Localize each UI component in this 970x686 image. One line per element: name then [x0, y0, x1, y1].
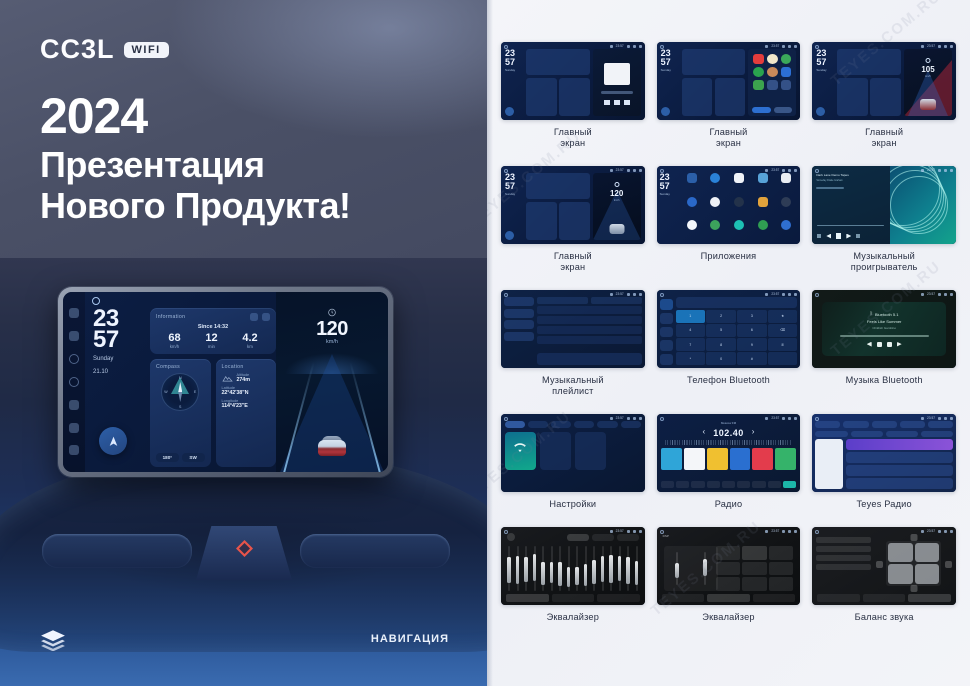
eq-band-slider[interactable]: [559, 546, 561, 591]
eq-preset-icon[interactable]: [507, 533, 515, 541]
eq-band-slider[interactable]: [542, 546, 544, 591]
caption-line-2: экран: [716, 138, 741, 148]
volume-icon: [627, 530, 630, 533]
rail-mute-icon[interactable]: [69, 331, 79, 341]
eq-band-slider[interactable]: [576, 546, 578, 591]
eq-band-slider[interactable]: [610, 546, 612, 591]
thumb-compass-card: [837, 78, 868, 117]
layers-icon: [40, 629, 66, 651]
seat-front-right[interactable]: [915, 543, 940, 563]
eq-band-slider[interactable]: [508, 546, 510, 591]
thumb-clock-day: Sunday: [660, 192, 678, 196]
compass-w: W: [164, 390, 167, 394]
thumbnail-home-drive[interactable]: 23 57 Sunday 105: [812, 42, 956, 120]
widget-column: Information Since 14:32 68: [150, 308, 276, 467]
balance-preset-rear[interactable]: [816, 555, 870, 561]
list-item[interactable]: [537, 326, 642, 334]
app-calculator-icon[interactable]: [758, 173, 768, 183]
balance-bottom-tabs[interactable]: [817, 594, 951, 602]
rail-power-icon[interactable]: [69, 354, 79, 364]
caption-line-2: экран: [560, 138, 585, 148]
dsp-mode-button[interactable]: [769, 577, 794, 591]
navigation-label: НАВИГАЦИЯ: [371, 633, 449, 645]
dock-item[interactable]: [707, 481, 720, 488]
rail-volume-down-icon[interactable]: [69, 423, 79, 433]
key-2[interactable]: 2: [706, 310, 735, 323]
preset-2[interactable]: [684, 448, 705, 470]
equalizer-sliders[interactable]: [508, 546, 638, 591]
gallery-caption: Главный экран: [865, 127, 903, 149]
thumb-status-time: 23:57: [927, 292, 935, 296]
balance-down-button[interactable]: [910, 585, 917, 592]
gallery-item[interactable]: 23:57 Музыкальный плейлист: [501, 290, 645, 397]
gallery-caption: Музыкальный плейлист: [542, 375, 604, 397]
preset-1[interactable]: [661, 448, 682, 470]
teyes-station-artwork: [815, 439, 843, 489]
play-pause-icon[interactable]: [877, 342, 882, 347]
thumbnail-sound-balance[interactable]: 23:57: [812, 527, 956, 605]
thumb-status-bar: 23:57: [765, 44, 797, 48]
eq-band-slider[interactable]: [534, 546, 536, 591]
thumb-status-bar: 23:57: [921, 416, 953, 420]
tab-eq[interactable]: [817, 594, 860, 602]
app-gallery-icon[interactable]: [781, 197, 791, 207]
home-circle-icon: [504, 417, 508, 421]
balance-pad-area[interactable]: [876, 534, 952, 601]
head-unit-bezel: 23:57 15 23: [58, 287, 393, 477]
app-bluetooth-music-icon[interactable]: [734, 173, 744, 183]
radio-next-icon[interactable]: ›: [752, 427, 755, 436]
playlist-tab-artists[interactable]: [504, 320, 534, 329]
thumb-speed-value: 120: [593, 189, 641, 198]
dsp-mode-button[interactable]: [742, 577, 767, 591]
caption-line-1: Эквалайзер: [547, 612, 599, 622]
expand-icon[interactable]: [262, 313, 270, 321]
home-circle-icon: [504, 45, 508, 49]
hero-headline: 2024 Презентация Нового Продукта!: [40, 88, 351, 226]
settings-tabs[interactable]: [505, 421, 641, 428]
balance-preset-all[interactable]: [816, 564, 870, 570]
gallery-caption: Главный экран: [554, 127, 592, 149]
thumbnail-home-speed[interactable]: 23 57 Sunday 120 km/h: [501, 166, 645, 244]
thumbnail-bluetooth-music[interactable]: ᛒ Bluetooth 5.1 Feels Like Summer Childi…: [812, 290, 956, 368]
thumb-status-bar: 23:57: [610, 44, 642, 48]
thumbnail-equalizer[interactable]: 23:57: [501, 527, 645, 605]
playlist-sidebar[interactable]: [504, 297, 534, 365]
app-radio-icon[interactable]: [781, 220, 791, 230]
rail-back-icon[interactable]: [69, 400, 79, 410]
next-icon[interactable]: [897, 342, 902, 347]
list-item[interactable]: [846, 439, 953, 450]
air-vent-left: [42, 534, 192, 568]
gallery-item[interactable]: 23:57 Баланс звука: [812, 527, 956, 623]
list-item[interactable]: [537, 316, 642, 324]
balance-up-button[interactable]: [910, 534, 917, 541]
eq-band-slider[interactable]: [627, 546, 629, 591]
dsp-slider-left[interactable]: [676, 552, 678, 584]
thumbnail-teyes-radio[interactable]: 23:57: [812, 414, 956, 492]
gallery-caption: Главный экран: [709, 127, 747, 149]
tab-sound[interactable]: [528, 421, 548, 428]
thumb-info-card: [837, 49, 901, 75]
dock-item[interactable]: [661, 481, 674, 488]
list-item[interactable]: [537, 336, 642, 344]
gallery-item[interactable]: 23:57 Настройки: [501, 414, 645, 510]
music-progress-bar[interactable]: [817, 225, 884, 226]
list-item[interactable]: [537, 306, 642, 314]
thumb-drive-pane: 105 km/h: [904, 49, 952, 116]
gear-icon: [788, 530, 791, 533]
driving-view-pane[interactable]: 120 km/h: [276, 292, 388, 472]
gear-icon: [633, 530, 636, 533]
dock-item[interactable]: [691, 481, 704, 488]
phone-number-field[interactable]: [676, 297, 798, 308]
dsp-mode-button[interactable]: [769, 562, 794, 576]
radio-bottom-dock[interactable]: [661, 481, 797, 488]
key-4[interactable]: 4: [676, 324, 705, 337]
thumbnail-radio[interactable]: Moscow FM ‹ 102.40 ›: [657, 414, 801, 492]
gear-icon: [944, 45, 947, 48]
eq-band-slider[interactable]: [619, 546, 621, 591]
compass-card[interactable]: Compass N E S W: [150, 359, 211, 467]
home-circle-icon: [815, 45, 819, 49]
list-item[interactable]: [846, 478, 953, 489]
gallery-item[interactable]: 23 57 Sunday 120 km/h: [501, 166, 645, 273]
rail-volume-up-icon[interactable]: [69, 445, 79, 455]
thumb-status-time: 23:57: [616, 168, 624, 172]
settings-card-carplay[interactable]: [540, 432, 571, 470]
app-google-icon[interactable]: [687, 220, 697, 230]
dsp-mode-button[interactable]: [769, 546, 794, 560]
settings-card-wifi[interactable]: [505, 432, 536, 470]
volume-icon: [782, 293, 785, 296]
favorites-icon[interactable]: ★: [768, 310, 797, 323]
thumb-status-bar: 23:57: [610, 416, 642, 420]
dock-search-icon[interactable]: [676, 481, 689, 488]
key-1[interactable]: 1: [676, 310, 705, 323]
clock-minutes: 57: [93, 329, 145, 350]
gear-icon: [633, 169, 636, 172]
tab-eq[interactable]: [662, 594, 705, 602]
playlist-header: [537, 297, 642, 304]
bt-music-controls[interactable]: [867, 342, 902, 347]
gallery-item[interactable]: 23 57 Sunday: [501, 42, 645, 149]
playlist-tab-albums[interactable]: [504, 309, 534, 318]
thumbnail-music-player[interactable]: Dark Lane Demo Tapes Someday Drake Graha…: [812, 166, 956, 244]
compass-dial: N E S W: [161, 373, 199, 411]
thumb-status-bar: 23:57: [765, 529, 797, 533]
teyes-filters[interactable]: [815, 431, 953, 437]
phone-tab-contacts[interactable]: [660, 313, 673, 324]
home-circle-icon: [660, 417, 664, 421]
information-card[interactable]: Information Since 14:32 68: [150, 308, 276, 354]
dsp-mode-button[interactable]: [716, 562, 741, 576]
caption-line-1: Баланс звука: [855, 612, 914, 622]
thumb-nav-fab: [661, 107, 670, 116]
volume-icon: [627, 417, 630, 420]
thumb-compass-card: [526, 78, 557, 117]
tab-wifi[interactable]: [505, 421, 525, 428]
dsp-mode-button-active[interactable]: [742, 546, 767, 560]
stop-icon[interactable]: [887, 342, 892, 347]
volume-icon: [938, 530, 941, 533]
call-icon[interactable]: ✆: [768, 338, 797, 351]
eq-reset-button[interactable]: [617, 534, 639, 541]
teyes-tabs[interactable]: [815, 421, 953, 428]
wifi-icon: [921, 169, 924, 172]
app-playstore-icon[interactable]: [758, 220, 768, 230]
balance-preset-driver[interactable]: [816, 537, 870, 543]
music-controls[interactable]: [817, 233, 860, 239]
pause-icon[interactable]: [836, 233, 841, 239]
tab-dsp[interactable]: [863, 594, 906, 602]
tab-field[interactable]: [908, 594, 951, 602]
eq-band-slider[interactable]: [525, 546, 527, 591]
wifi-icon: [765, 169, 768, 172]
music-track-title: Dark Lane Demo Tapes: [816, 173, 886, 177]
key-7[interactable]: 7: [676, 338, 705, 351]
tab-apps[interactable]: [574, 421, 594, 428]
navigation-fab-button[interactable]: [99, 427, 127, 455]
dsp-sliders[interactable]: [664, 546, 719, 591]
location-card[interactable]: Location Altitude 274m: [216, 359, 277, 467]
balance-presets[interactable]: [816, 534, 870, 601]
thumb-clock-day: Sunday: [816, 68, 834, 72]
key-hash[interactable]: #: [737, 352, 766, 365]
seat-front-left[interactable]: [888, 543, 913, 563]
shuffle-icon[interactable]: [817, 234, 821, 238]
equalizer-bottom-tabs[interactable]: [662, 594, 796, 602]
eq-band-slider[interactable]: [636, 546, 638, 591]
thumb-status-time: 23:57: [927, 168, 935, 172]
tab-dsp[interactable]: [552, 594, 595, 602]
list-item[interactable]: [846, 452, 953, 463]
gallery-item[interactable]: 23:57 Teyes Радио: [812, 414, 956, 510]
key-9[interactable]: 9: [737, 338, 766, 351]
dock-item[interactable]: [768, 481, 781, 488]
gallery-item[interactable]: 23:57 Эквалайзер: [501, 527, 645, 623]
dock-item[interactable]: [722, 481, 735, 488]
app-musicplayer-icon[interactable]: [734, 220, 744, 230]
thumb-speed-unit: km/h: [904, 75, 952, 78]
volume-icon: [938, 169, 941, 172]
eq-save-button[interactable]: [592, 534, 614, 541]
thumb-status-bar: 23:57: [921, 168, 953, 172]
refresh-icon[interactable]: [250, 313, 258, 321]
settings-card-more[interactable]: [575, 432, 606, 470]
thumb-status-time: 23:57: [616, 416, 624, 420]
key-spacer: [768, 352, 797, 365]
phone-tab-dialer[interactable]: [660, 299, 673, 310]
logo-text: CC3L: [40, 34, 115, 65]
stat-speed-value: 68: [168, 332, 180, 344]
screen-content: 23:57 15 23: [85, 292, 388, 472]
key-5[interactable]: 5: [706, 324, 735, 337]
key-star[interactable]: *: [676, 352, 705, 365]
dsp-mode-button[interactable]: [742, 562, 767, 576]
caption-line-1: Эквалайзер: [702, 612, 754, 622]
back-arrow-icon: [794, 417, 797, 420]
wifi-icon: [610, 417, 613, 420]
head-unit-screen[interactable]: 23:57 15 23: [63, 292, 388, 472]
rail-home-icon[interactable]: [69, 377, 79, 387]
key-8[interactable]: 8: [706, 338, 735, 351]
information-card-header: Information: [156, 313, 270, 321]
key-3[interactable]: 3: [737, 310, 766, 323]
dsp-mode-button[interactable]: [716, 546, 741, 560]
app-dvr-icon[interactable]: [734, 197, 744, 207]
dsp-mode-button[interactable]: [716, 577, 741, 591]
balance-seat-grid[interactable]: [886, 541, 941, 587]
panel-divider: [487, 0, 493, 686]
screen-side-rail[interactable]: [63, 292, 85, 472]
preset-3[interactable]: [707, 448, 728, 470]
clock-date: 21.10: [93, 368, 145, 376]
caption-line-2: плейлист: [552, 386, 593, 396]
radio-tuning-scale[interactable]: [665, 440, 793, 445]
bt-music-card: ᛒ Bluetooth 5.1 Feels Like Summer Childi…: [822, 302, 946, 357]
app-maps-icon[interactable]: [710, 220, 720, 230]
key-0[interactable]: 0: [706, 352, 735, 365]
dock-item-active[interactable]: [783, 481, 796, 488]
radio-presets[interactable]: [661, 448, 797, 470]
home-circle-icon: [660, 45, 664, 49]
speed-value: 120: [276, 318, 388, 341]
tab-system[interactable]: [621, 421, 641, 428]
back-arrow-icon: [794, 293, 797, 296]
tab-dsp[interactable]: [707, 594, 750, 602]
eq-band-slider[interactable]: [585, 546, 587, 591]
gallery-item[interactable]: 23 57 Sunday: [657, 42, 801, 149]
gallery-item[interactable]: Dark Lane Demo Tapes Someday Drake Graha…: [812, 166, 956, 273]
app-camera-icon[interactable]: [781, 173, 791, 183]
eq-band-slider[interactable]: [602, 546, 604, 591]
app-avi-icon[interactable]: [687, 173, 697, 183]
key-6[interactable]: 6: [737, 324, 766, 337]
phone-tab-history[interactable]: [660, 340, 673, 351]
tab-eq[interactable]: [506, 594, 549, 602]
home-circle-icon[interactable]: [92, 297, 100, 305]
bt-track-artist: Childish Gambino: [872, 326, 896, 330]
teyes-station-list[interactable]: [846, 439, 953, 489]
preset-5[interactable]: [752, 448, 773, 470]
eq-band-slider[interactable]: [551, 546, 553, 591]
next-icon[interactable]: [846, 234, 851, 239]
caption-line-2: проигрыватель: [851, 262, 918, 272]
settings-cards[interactable]: [505, 432, 641, 470]
dock-item[interactable]: [752, 481, 765, 488]
clock-widget: 23 57 Sunday 21.10: [91, 308, 145, 467]
dock-item[interactable]: [737, 481, 750, 488]
bt-track-title: Feels Like Summer: [867, 319, 901, 324]
playlist-tab-folders[interactable]: [504, 332, 534, 341]
phone-keypad[interactable]: 1 2 3 ★ 4 5 6 ⌫ 7 8 9 ✆: [676, 310, 798, 365]
gallery-caption: Приложения: [701, 251, 757, 262]
app-bluetooth-icon[interactable]: [710, 173, 720, 183]
eq-band-slider[interactable]: [568, 546, 570, 591]
thumb-nav-fab: [505, 231, 514, 240]
app-chrome-icon[interactable]: [687, 197, 697, 207]
thumbnail-applications[interactable]: 23 57 Sunday: [657, 166, 801, 244]
tab-field[interactable]: [753, 594, 796, 602]
bt-progress-bar[interactable]: [840, 335, 929, 336]
gallery-item[interactable]: ᛒ Bluetooth 5.1 Feels Like Summer Childi…: [812, 290, 956, 397]
seat-rear-right[interactable]: [915, 564, 940, 584]
phone-tab-search[interactable]: [660, 327, 673, 338]
wifi-icon: [765, 45, 768, 48]
equalizer-bottom-tabs[interactable]: [506, 594, 640, 602]
compass-n: N: [179, 376, 182, 380]
gallery-item[interactable]: 1 2 3 ★ 4 5 6 ⌫ 7 8 9 ✆: [657, 290, 801, 397]
wifi-icon: [610, 530, 613, 533]
previous-icon[interactable]: [826, 234, 831, 239]
thumb-status-bar: 23:57: [610, 168, 642, 172]
thumbnail-bluetooth-phone[interactable]: 1 2 3 ★ 4 5 6 ⌫ 7 8 9 ✆: [657, 290, 801, 368]
eq-band-slider[interactable]: [593, 546, 595, 591]
information-card-actions[interactable]: [250, 313, 270, 321]
thumbnail-music-playlist[interactable]: 23:57: [501, 290, 645, 368]
thumb-status-time: 23:57: [771, 529, 779, 533]
music-track-pane: Dark Lane Demo Tapes Someday Drake Graha…: [812, 166, 890, 244]
thumbnail-home-apps[interactable]: 23 57 Sunday: [657, 42, 801, 120]
stat-time: 12 min: [205, 332, 217, 349]
gear-icon: [633, 293, 636, 296]
radio-prev-icon[interactable]: ‹: [703, 427, 706, 436]
balance-left-button[interactable]: [876, 561, 883, 568]
apps-icon-grid[interactable]: [678, 173, 798, 241]
list-item[interactable]: [846, 465, 953, 476]
eq-band-slider[interactable]: [517, 546, 519, 591]
previous-icon[interactable]: [867, 342, 872, 347]
phone-tab-settings[interactable]: [660, 354, 673, 365]
gallery-item[interactable]: Moscow FM ‹ 102.40 ›: [657, 414, 801, 510]
tab-general[interactable]: [597, 421, 617, 428]
tab-display[interactable]: [551, 421, 571, 428]
gear-icon: [788, 45, 791, 48]
rail-menu-icon[interactable]: [69, 308, 79, 318]
thumbnail-home-media[interactable]: 23 57 Sunday: [501, 42, 645, 120]
phone-sidebar[interactable]: [660, 297, 673, 365]
stat-speed: 68 km/h: [168, 332, 180, 349]
thumbnail-settings[interactable]: 23:57: [501, 414, 645, 492]
balance-right-button[interactable]: [945, 561, 952, 568]
eq-preset-button[interactable]: [567, 534, 589, 541]
seat-rear-left[interactable]: [888, 564, 913, 584]
home-widgets: 23 57 Sunday 21.10: [91, 308, 276, 467]
thumbnail-equalizer-dsp[interactable]: DSP: [657, 527, 801, 605]
gallery-item[interactable]: 23 57 Sunday 105: [812, 42, 956, 149]
gallery-item[interactable]: DSP: [657, 527, 801, 623]
wifi-icon: [765, 293, 768, 296]
playlist-tab-tracks[interactable]: [504, 297, 534, 306]
dsp-slider-right[interactable]: [704, 552, 706, 584]
tab-field[interactable]: [597, 594, 640, 602]
repeat-icon[interactable]: [856, 234, 860, 238]
preset-4[interactable]: [730, 448, 751, 470]
app-carplay-icon[interactable]: [710, 197, 720, 207]
gear-icon: [788, 169, 791, 172]
headline-year: 2024: [40, 88, 351, 144]
preset-6[interactable]: [775, 448, 796, 470]
playlist-now-playing-bar[interactable]: [537, 353, 642, 365]
dsp-mode-buttons[interactable]: [716, 546, 794, 591]
app-filemanager-icon[interactable]: [758, 197, 768, 207]
gallery-caption: Радио: [715, 499, 743, 510]
gallery-item[interactable]: 23 57 Sunday: [657, 166, 801, 273]
backspace-icon[interactable]: ⌫: [768, 324, 797, 337]
wifi-icon: [921, 530, 924, 533]
balance-preset-front[interactable]: [816, 546, 870, 552]
